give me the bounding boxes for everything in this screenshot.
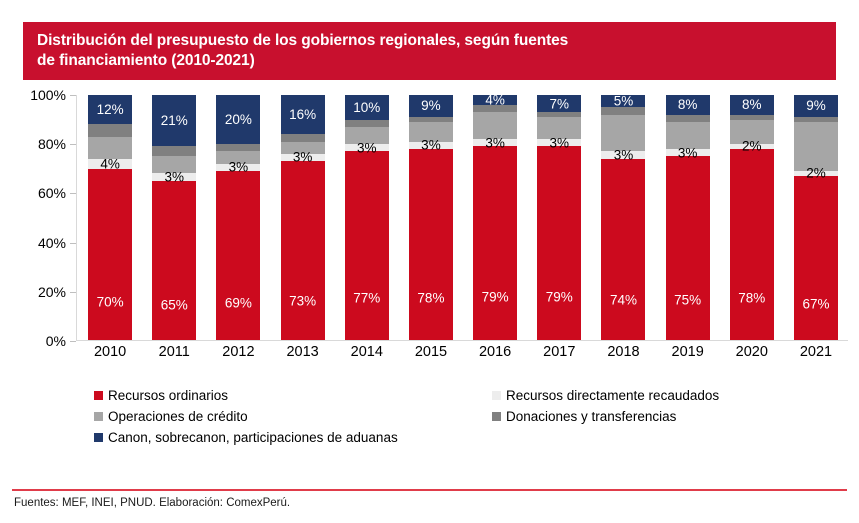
- bar-value-label: 10%: [353, 101, 380, 115]
- bar-value-label: 77%: [353, 292, 380, 306]
- stacked-bar-2012[interactable]: 69%3%20%: [216, 95, 260, 340]
- bar-value-label: 78%: [417, 291, 444, 305]
- x-axis-tick-label-2013: 2013: [271, 344, 335, 360]
- bar-segment[interactable]: [730, 115, 774, 120]
- bar-segment[interactable]: 3%: [473, 139, 517, 146]
- stacked-bar-group: 70%4%12%65%3%21%69%3%20%73%3%16%77%3%10%…: [78, 95, 848, 340]
- bar-value-label: 78%: [738, 291, 765, 305]
- bar-segment[interactable]: [409, 117, 453, 122]
- bar-segment[interactable]: 5%: [601, 95, 645, 107]
- bar-segment[interactable]: 3%: [601, 151, 645, 158]
- legend-item-2[interactable]: Operaciones de crédito: [94, 409, 248, 424]
- bar-value-label: 3%: [357, 141, 377, 155]
- bar-slot-2010: 70%4%12%: [78, 95, 142, 340]
- y-axis-line: [76, 95, 77, 341]
- x-axis-tick-label-2015: 2015: [399, 344, 463, 360]
- legend-label: Recursos directamente recaudados: [506, 388, 719, 403]
- bar-segment[interactable]: 7%: [537, 95, 581, 112]
- y-axis-tick-label: 0%: [46, 333, 66, 349]
- bar-segment[interactable]: 3%: [152, 173, 196, 180]
- bar-segment[interactable]: [794, 122, 838, 171]
- bar-segment[interactable]: 9%: [409, 95, 453, 117]
- bar-value-label: 9%: [806, 99, 826, 113]
- bar-segment[interactable]: 3%: [537, 139, 581, 146]
- bar-segment[interactable]: 2%: [794, 171, 838, 176]
- bar-slot-2014: 77%3%10%: [335, 95, 399, 340]
- bar-slot-2016: 79%3%4%: [463, 95, 527, 340]
- legend-swatch-icon: [94, 412, 103, 421]
- source-note: Fuentes: MEF, INEI, PNUD. Elaboración: C…: [14, 497, 290, 509]
- x-axis-tick-label-2021: 2021: [784, 344, 848, 360]
- stacked-bar-2014[interactable]: 77%3%10%: [345, 95, 389, 340]
- x-axis-tick-label-2018: 2018: [591, 344, 655, 360]
- stacked-bar-2010[interactable]: 70%4%12%: [88, 95, 132, 340]
- bar-value-label: 67%: [802, 297, 829, 311]
- stacked-bar-2021[interactable]: 67%2%9%: [794, 95, 838, 340]
- bar-value-label: 8%: [742, 98, 762, 112]
- bar-segment[interactable]: 3%: [216, 164, 260, 171]
- bar-value-label: 3%: [550, 136, 570, 150]
- bar-segment[interactable]: 78%: [409, 149, 453, 340]
- legend-label: Operaciones de crédito: [108, 409, 248, 424]
- legend-swatch-icon: [492, 412, 501, 421]
- stacked-bar-2017[interactable]: 79%3%7%: [537, 95, 581, 340]
- bar-value-label: 7%: [550, 97, 570, 111]
- legend-item-0[interactable]: Recursos ordinarios: [94, 388, 228, 403]
- legend-item-3[interactable]: Donaciones y transferencias: [492, 409, 676, 424]
- chart-legend: Recursos ordinariosRecursos directamente…: [0, 382, 859, 462]
- legend-swatch-icon: [492, 391, 501, 400]
- bar-value-label: 8%: [678, 98, 698, 112]
- bar-segment[interactable]: 8%: [666, 95, 710, 115]
- x-axis-line: [76, 340, 848, 341]
- bar-value-label: 3%: [293, 151, 313, 165]
- bar-value-label: 65%: [161, 298, 188, 312]
- bar-value-label: 3%: [164, 170, 184, 184]
- x-axis-tick-label-2012: 2012: [206, 344, 270, 360]
- bar-segment[interactable]: [281, 134, 325, 141]
- bar-segment[interactable]: 3%: [409, 142, 453, 149]
- bar-segment[interactable]: 3%: [345, 144, 389, 151]
- stacked-bar-2018[interactable]: 74%3%5%: [601, 95, 645, 340]
- legend-swatch-icon: [94, 433, 103, 442]
- stacked-bar-2013[interactable]: 73%3%16%: [281, 95, 325, 340]
- bar-value-label: 20%: [225, 113, 252, 127]
- bar-slot-2013: 73%3%16%: [271, 95, 335, 340]
- bar-segment[interactable]: [152, 146, 196, 156]
- stacked-bar-2011[interactable]: 65%3%21%: [152, 95, 196, 340]
- bar-slot-2015: 78%3%9%: [399, 95, 463, 340]
- bar-value-label: 79%: [482, 291, 509, 305]
- bar-slot-2018: 74%3%5%: [591, 95, 655, 340]
- x-axis-tick-label-2020: 2020: [720, 344, 784, 360]
- bar-segment[interactable]: [537, 112, 581, 117]
- x-axis-tick-label-2017: 2017: [527, 344, 591, 360]
- bar-segment[interactable]: 16%: [281, 95, 325, 134]
- bar-slot-2011: 65%3%21%: [142, 95, 206, 340]
- y-axis-tick-label: 20%: [38, 284, 66, 300]
- bar-value-label: 73%: [289, 294, 316, 308]
- bar-segment[interactable]: [216, 144, 260, 151]
- chart-header-band: Distribución del presupuesto de los gobi…: [23, 22, 836, 80]
- stacked-bar-2015[interactable]: 78%3%9%: [409, 95, 453, 340]
- y-axis-tick-mark: [70, 341, 76, 342]
- bar-segment[interactable]: 78%: [730, 149, 774, 340]
- bar-value-label: 5%: [614, 94, 634, 108]
- bar-value-label: 2%: [742, 140, 762, 154]
- bar-segment[interactable]: 79%: [537, 146, 581, 340]
- bar-value-label: 21%: [161, 114, 188, 128]
- bar-segment[interactable]: [601, 115, 645, 152]
- bar-segment[interactable]: 69%: [216, 171, 260, 340]
- bar-segment[interactable]: [666, 115, 710, 122]
- bar-value-label: 2%: [806, 167, 826, 181]
- bar-segment[interactable]: 67%: [794, 176, 838, 340]
- footer-divider: [12, 489, 847, 491]
- legend-label: Donaciones y transferencias: [506, 409, 676, 424]
- legend-item-1[interactable]: Recursos directamente recaudados: [492, 388, 719, 403]
- bar-value-label: 3%: [421, 138, 441, 152]
- x-axis-tick-label-2019: 2019: [656, 344, 720, 360]
- x-axis: 2010201120122013201420152016201720182019…: [78, 344, 848, 360]
- legend-swatch-icon: [94, 391, 103, 400]
- stacked-bar-2019[interactable]: 75%3%8%: [666, 95, 710, 340]
- bar-segment[interactable]: 75%: [666, 156, 710, 340]
- bar-slot-2021: 67%2%9%: [784, 95, 848, 340]
- bar-segment[interactable]: 10%: [345, 95, 389, 120]
- chart-plot-area: 0%20%40%60%80%100% 70%4%12%65%3%21%69%3%…: [0, 88, 859, 370]
- bar-slot-2019: 75%3%8%: [656, 95, 720, 340]
- bar-segment[interactable]: 4%: [473, 95, 517, 105]
- stacked-bar-2020[interactable]: 78%2%8%: [730, 95, 774, 340]
- x-axis-tick-label-2011: 2011: [142, 344, 206, 360]
- x-axis-tick-label-2014: 2014: [335, 344, 399, 360]
- bar-segment[interactable]: 73%: [281, 161, 325, 340]
- bar-slot-2020: 78%2%8%: [720, 95, 784, 340]
- bar-segment[interactable]: 20%: [216, 95, 260, 144]
- bar-value-label: 12%: [97, 103, 124, 117]
- legend-item-4[interactable]: Canon, sobrecanon, participaciones de ad…: [94, 430, 398, 445]
- page-title: Distribución del presupuesto de los gobi…: [37, 31, 836, 71]
- y-axis-tick-label: 60%: [38, 185, 66, 201]
- bar-value-label: 79%: [546, 291, 573, 305]
- bar-segment[interactable]: 3%: [281, 154, 325, 161]
- bar-value-label: 3%: [678, 146, 698, 160]
- legend-label: Canon, sobrecanon, participaciones de ad…: [108, 430, 398, 445]
- bar-segment[interactable]: 65%: [152, 181, 196, 340]
- bar-value-label: 69%: [225, 296, 252, 310]
- bar-segment[interactable]: 9%: [794, 95, 838, 117]
- stacked-bar-2016[interactable]: 79%3%4%: [473, 95, 517, 340]
- bar-value-label: 70%: [97, 296, 124, 310]
- y-axis-tick-label: 80%: [38, 136, 66, 152]
- bar-slot-2012: 69%3%20%: [206, 95, 270, 340]
- bar-value-label: 3%: [614, 148, 634, 162]
- bar-slot-2017: 79%3%7%: [527, 95, 591, 340]
- bar-segment[interactable]: 12%: [88, 95, 132, 124]
- bar-value-label: 4%: [485, 93, 505, 107]
- bar-value-label: 75%: [674, 293, 701, 307]
- bar-segment[interactable]: 8%: [730, 95, 774, 115]
- bar-segment[interactable]: 77%: [345, 151, 389, 340]
- y-axis: 0%20%40%60%80%100%: [14, 88, 76, 340]
- bar-value-label: 3%: [229, 161, 249, 175]
- x-axis-tick-label-2010: 2010: [78, 344, 142, 360]
- bar-value-label: 9%: [421, 99, 441, 113]
- bar-segment[interactable]: 2%: [730, 144, 774, 149]
- bar-value-label: 74%: [610, 293, 637, 307]
- bar-segment[interactable]: [88, 124, 132, 136]
- bar-value-label: 3%: [485, 136, 505, 150]
- y-axis-tick-label: 40%: [38, 235, 66, 251]
- bar-value-label: 4%: [100, 157, 120, 171]
- bar-segment[interactable]: 4%: [88, 159, 132, 169]
- bar-segment[interactable]: [794, 117, 838, 122]
- bar-segment[interactable]: 79%: [473, 146, 517, 340]
- bar-value-label: 16%: [289, 108, 316, 122]
- bar-segment[interactable]: [345, 120, 389, 127]
- bar-segment[interactable]: 70%: [88, 169, 132, 341]
- legend-label: Recursos ordinarios: [108, 388, 228, 403]
- y-axis-tick-label: 100%: [30, 87, 66, 103]
- x-axis-tick-label-2016: 2016: [463, 344, 527, 360]
- bar-segment[interactable]: 3%: [666, 149, 710, 156]
- bar-segment[interactable]: 21%: [152, 95, 196, 146]
- bar-segment[interactable]: 74%: [601, 159, 645, 340]
